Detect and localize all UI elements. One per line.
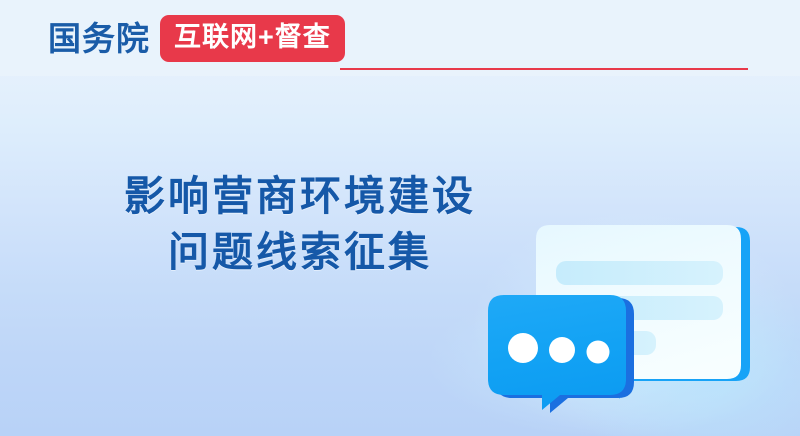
header-divider-line xyxy=(340,68,748,70)
promo-banner: 国务院 互联网+督查 影响营商环境建设 问题线索征集 xyxy=(0,0,800,436)
speech-bubbles-illustration xyxy=(478,216,778,436)
gov-logo-text: 国务院 xyxy=(48,22,150,55)
header: 国务院 互联网+督查 xyxy=(0,0,800,76)
internet-plus-supervision-badge: 互联网+督查 xyxy=(160,15,345,62)
